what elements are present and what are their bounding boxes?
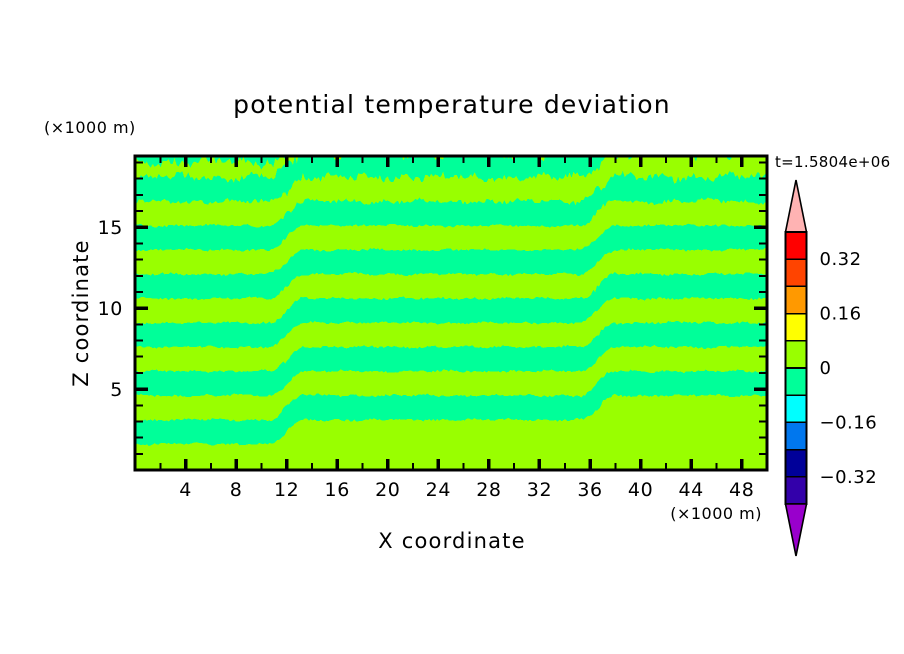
x-tick-label: 48	[729, 479, 754, 501]
colorbar-segment[interactable]	[786, 314, 807, 341]
colorbar-segment[interactable]	[786, 422, 807, 449]
colorbar-segment[interactable]	[786, 286, 807, 313]
x-tick-label: 36	[577, 479, 602, 501]
x-tick-label: 4	[179, 479, 192, 501]
x-tick-label: 8	[230, 479, 243, 501]
x-tick-label: 20	[375, 479, 400, 501]
x-axis-units-label: (×1000 m)	[670, 504, 762, 523]
y-tick-label: 15	[98, 217, 123, 239]
x-tick-label: 16	[325, 479, 350, 501]
colorbar-label: −0.32	[820, 467, 878, 488]
colorbar-segment[interactable]	[786, 341, 807, 368]
y-axis-title: Z coordinate	[69, 239, 93, 386]
x-tick-label: 28	[476, 479, 501, 501]
colorbar-segments[interactable]	[786, 232, 807, 504]
contour-plot-figure: potential temperature deviation (×1000 m…	[0, 0, 904, 654]
colorbar-segment[interactable]	[786, 395, 807, 422]
colorbar-label: 0	[820, 358, 832, 379]
colorbar-label: 0.16	[820, 304, 862, 325]
colorbar-segment[interactable]	[786, 450, 807, 477]
x-axis-title: X coordinate	[378, 529, 525, 553]
colorbar-segment[interactable]	[786, 477, 807, 504]
x-tick-label: 24	[426, 479, 451, 501]
y-axis-units-label: (×1000 m)	[44, 118, 136, 137]
x-tick-label: 32	[527, 479, 552, 501]
page-title: potential temperature deviation	[233, 90, 671, 119]
colorbar-segment[interactable]	[786, 232, 807, 259]
x-tick-label: 44	[678, 479, 703, 501]
x-tick-label: 12	[274, 479, 299, 501]
colorbar-segment[interactable]	[786, 368, 807, 395]
colorbar-segment[interactable]	[786, 259, 807, 286]
time-annotation: t=1.5804e+06	[775, 153, 890, 171]
y-tick-label: 10	[98, 298, 123, 320]
x-tick-label: 40	[628, 479, 653, 501]
colorbar-label: 0.32	[820, 249, 862, 270]
colorbar-label: −0.16	[820, 412, 878, 433]
y-tick-label: 5	[110, 379, 123, 401]
